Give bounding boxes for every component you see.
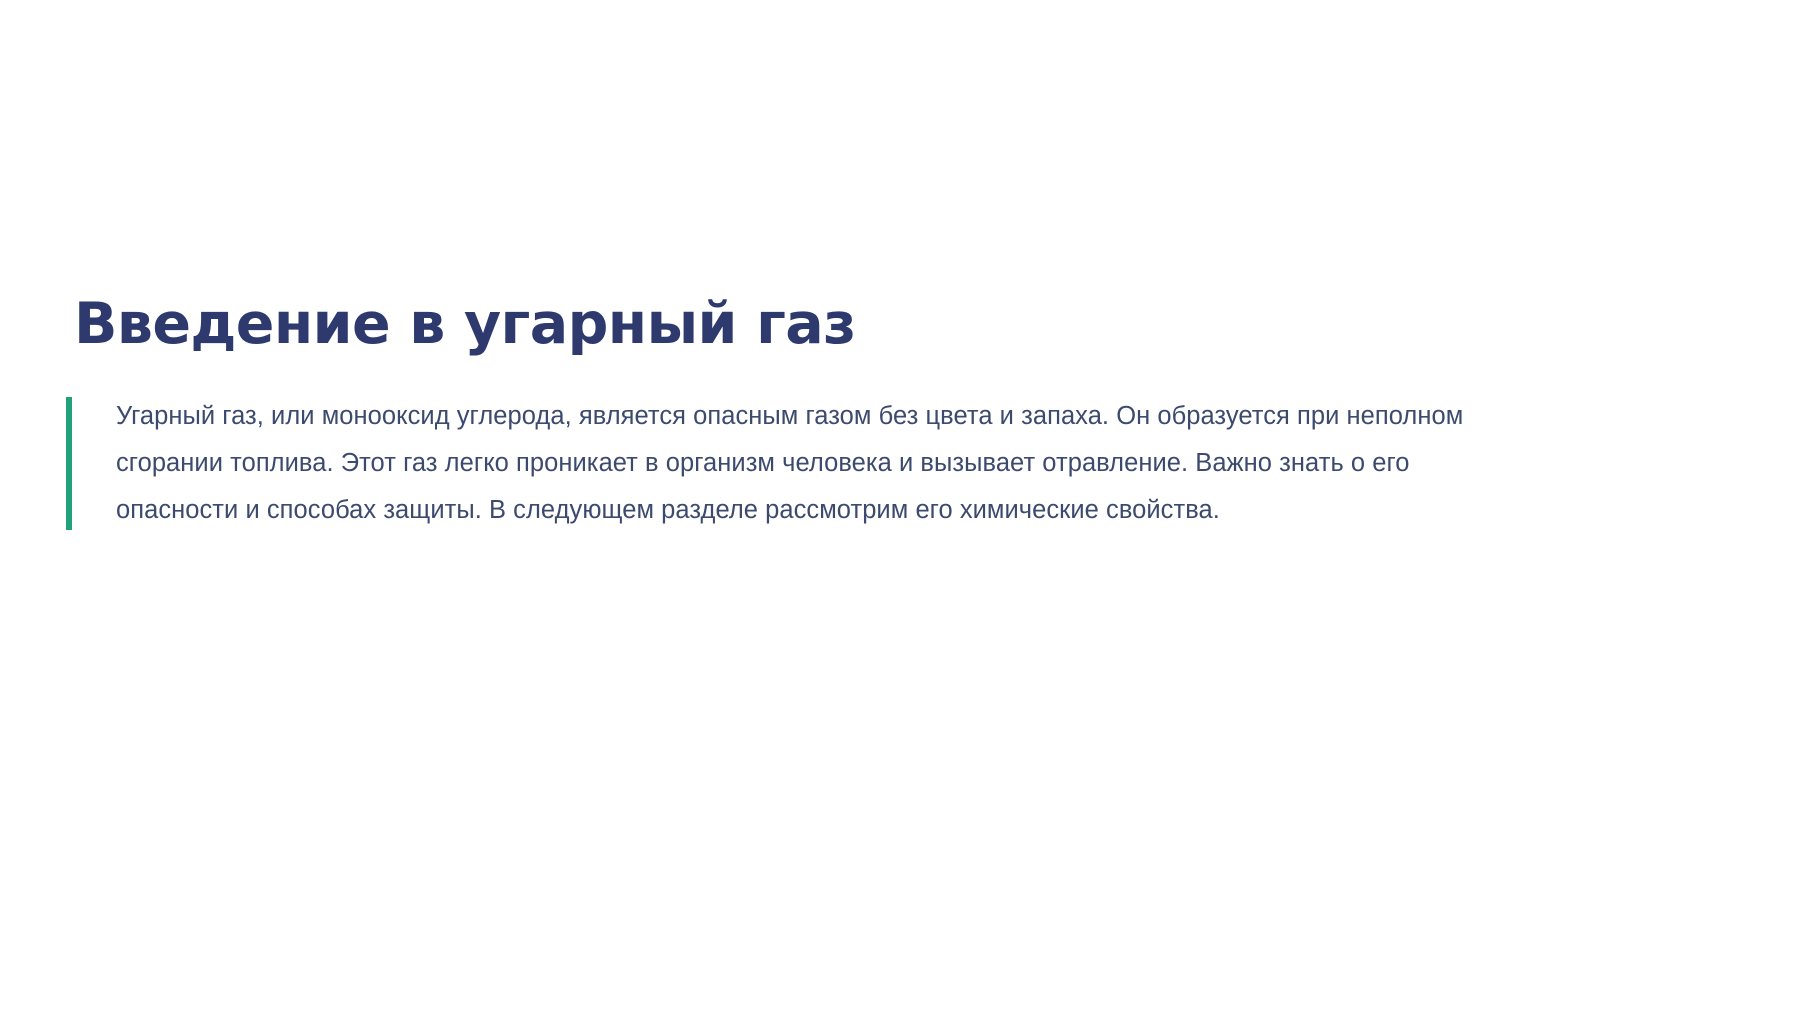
slide-canvas: Введение в угарный газ Угарный газ, или … [0, 0, 1800, 1013]
page-title: Введение в угарный газ [66, 292, 1726, 357]
accent-bar [66, 397, 72, 530]
content-block: Введение в угарный газ Угарный газ, или … [66, 292, 1726, 534]
body-paragraph: Угарный газ, или монооксид углерода, явл… [116, 393, 1536, 534]
body-paragraph-container: Угарный газ, или монооксид углерода, явл… [66, 393, 1726, 534]
